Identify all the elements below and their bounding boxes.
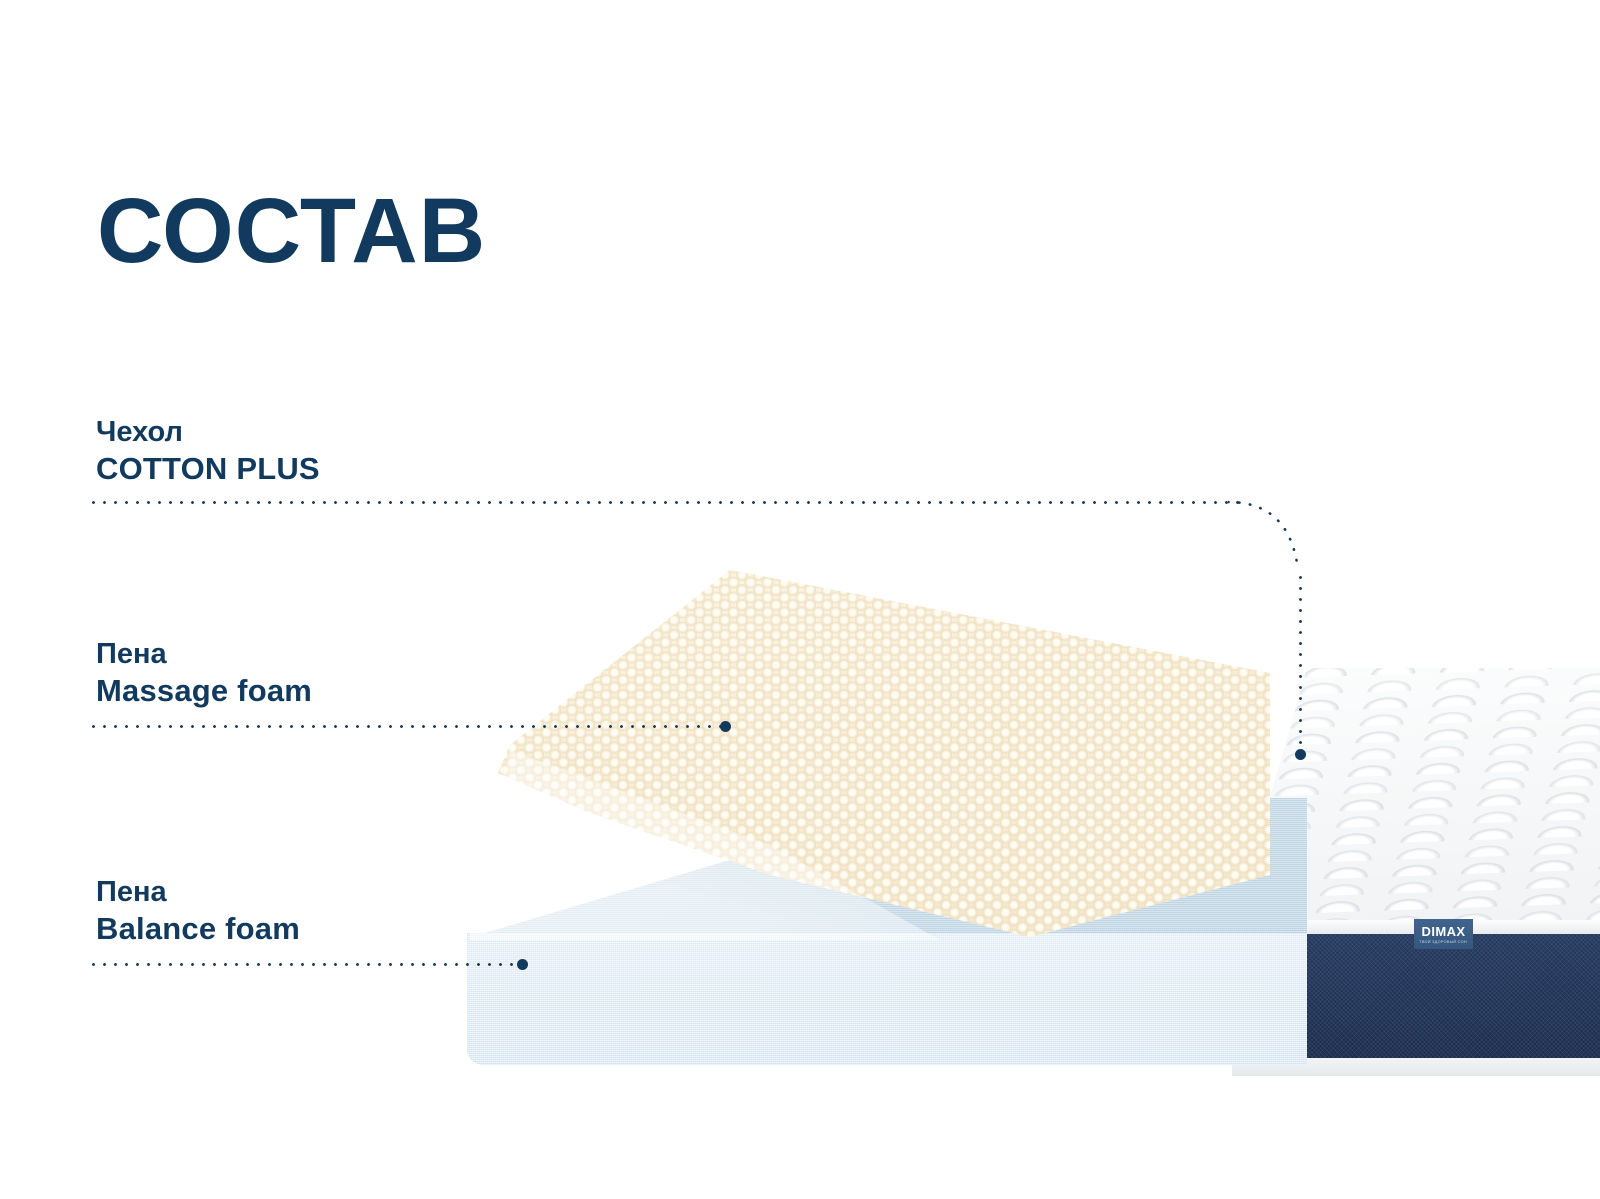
- layer-label-massage-line2: Massage foam: [96, 672, 312, 710]
- balance-foam-front-face: [467, 933, 1307, 1065]
- composition-infographic: СОСТАВ DIMAX ТВОЙ ЗДОРОВЫЙ СОН: [0, 0, 1600, 1199]
- layer-label-cover: Чехол COTTON PLUS: [96, 415, 320, 488]
- layer-label-massage-foam: Пена Massage foam: [96, 637, 312, 710]
- leader-line-balance: [88, 963, 520, 966]
- layer-label-cover-line1: Чехол: [96, 415, 320, 450]
- massage-foam-bubble-texture: [470, 545, 1270, 940]
- leader-line-cover-horizontal: [88, 501, 1240, 504]
- layer-label-balance-line2: Balance foam: [96, 910, 300, 948]
- brand-name: DIMAX: [1422, 925, 1466, 938]
- layer-label-cover-line2: COTTON PLUS: [96, 450, 320, 488]
- layer-label-balance-line1: Пена: [96, 875, 300, 910]
- layer-label-balance-foam: Пена Balance foam: [96, 875, 300, 948]
- dimax-logo-badge: DIMAX ТВОЙ ЗДОРОВЫЙ СОН: [1414, 919, 1473, 949]
- leader-marker-balance: [517, 959, 528, 970]
- brand-tagline: ТВОЙ ЗДОРОВЫЙ СОН: [1420, 940, 1468, 944]
- leader-line-cover-arc: [1228, 486, 1318, 576]
- layer-label-massage-line1: Пена: [96, 637, 312, 672]
- mattress-illustration: DIMAX ТВОЙ ЗДОРОВЫЙ СОН: [0, 0, 1600, 1199]
- leader-line-cover-vertical: [1299, 572, 1302, 752]
- leader-marker-cover: [1295, 749, 1306, 760]
- massage-foam-sheet: [470, 545, 1270, 940]
- leader-line-massage: [88, 725, 724, 728]
- leader-marker-massage: [720, 721, 731, 732]
